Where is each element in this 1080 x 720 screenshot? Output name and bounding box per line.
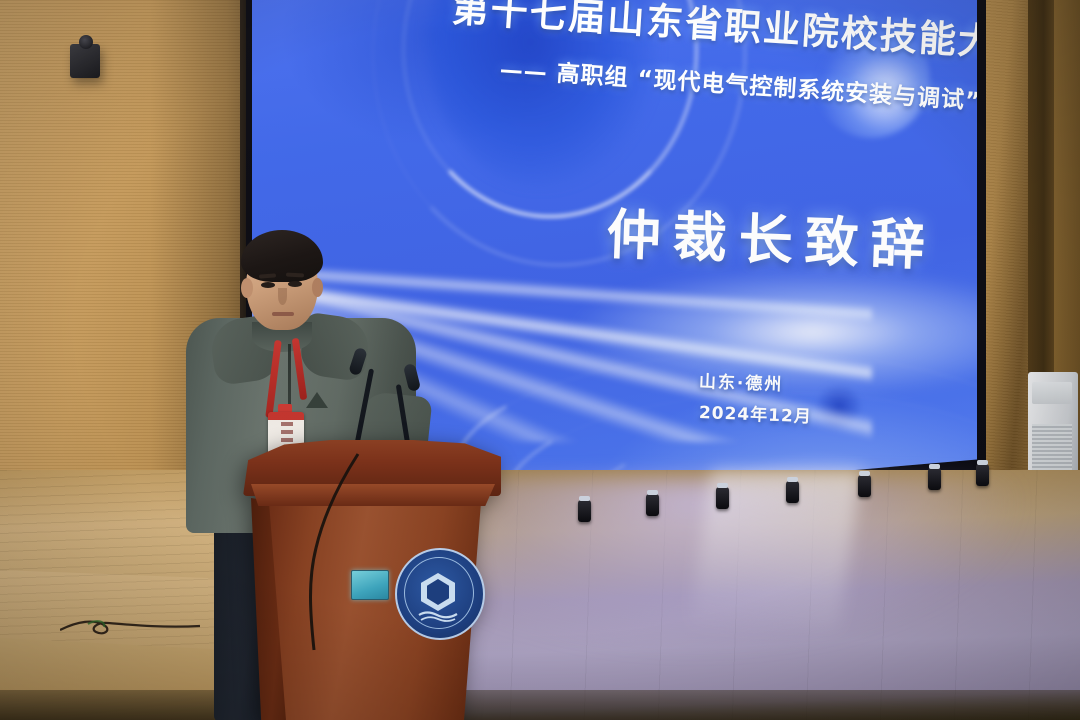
slide-location: 山东·德州	[699, 367, 784, 395]
stage-light-7	[976, 464, 989, 486]
presenter-ear-left	[241, 278, 253, 298]
slide-date: 2024年12月	[699, 398, 813, 427]
stage-light-6	[928, 468, 941, 490]
stage-light-2	[646, 494, 659, 516]
stage-light-3	[716, 487, 729, 509]
presenter-brow-right	[286, 273, 304, 278]
presenter-ear-right	[312, 278, 323, 297]
stage-light-1	[578, 500, 591, 522]
presenter-nose	[278, 288, 287, 305]
floor-cable-icon	[60, 612, 200, 642]
stage-light-4	[786, 481, 799, 503]
emblem-wave-icon	[417, 610, 459, 622]
stage-front-edge	[0, 690, 1080, 720]
stage-light-5	[858, 475, 871, 497]
microphone-cable	[280, 452, 370, 652]
slide-main-heading: 仲裁长致辞	[606, 190, 939, 280]
presenter-eye-left	[261, 282, 275, 288]
photo-scene: 第十七届山东省职业院校技能大赛 —— 高职组 “现代电气控制系统安装与调试” 赛…	[0, 0, 1080, 720]
stage-floor-highlight	[689, 470, 861, 630]
institution-emblem	[395, 548, 481, 636]
presenter-mouth	[272, 312, 294, 316]
ceiling-mounted-speaker-icon	[70, 44, 100, 78]
presenter-eye-right	[288, 281, 302, 287]
presenter-hair	[241, 230, 323, 282]
